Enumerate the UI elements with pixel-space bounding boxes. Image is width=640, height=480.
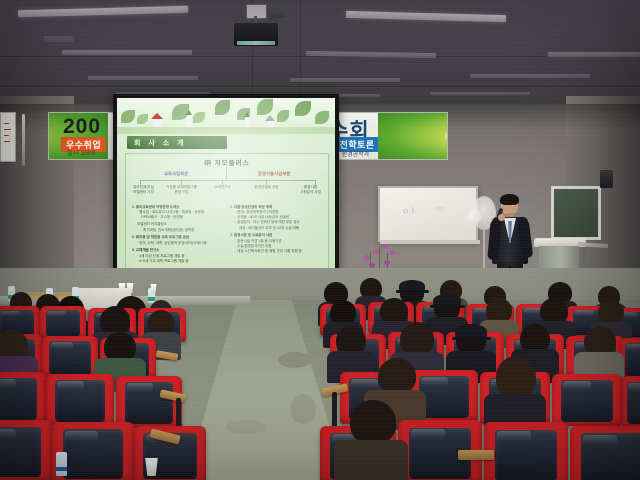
orchid-bloom [373,249,379,254]
auditorium-seat[interactable] [570,426,640,480]
auditorium-seat[interactable] [116,376,182,428]
ceiling-light [548,52,640,57]
orchid-bloom [364,255,370,260]
chalkboard [551,186,601,240]
auditorium-seat[interactable] [0,372,46,424]
orchid-bloom [389,250,395,255]
ceiling-light [306,51,436,58]
baseball-cap [399,280,425,292]
projector-cable [268,13,285,20]
ceiling-light [430,92,530,95]
auditorium-seat[interactable] [46,374,114,426]
whiteboard-writing: ㅇㅏ [401,205,417,217]
seat-armrest [458,450,494,460]
whiteboard: ㅇㅏ ○○ [378,186,478,242]
ceiling-light [346,11,506,22]
presenter-hair [500,194,519,205]
ceiling-projector [228,4,282,50]
auditorium-seat[interactable] [622,376,640,428]
ceiling-light [470,74,590,78]
auditorium-seat[interactable] [484,422,568,480]
banner-subtitle: 일시 2009. [67,148,97,157]
ceiling-light [18,6,188,17]
wall-tube-light [22,114,25,166]
baseball-cap [433,294,461,307]
ceiling-light [290,78,400,82]
projector-lens [237,41,275,45]
auditorium-seat[interactable] [0,420,52,480]
projection-screen: 회 사 소 개 ㈜ 자모플러스 교육사업부문 환경기술사업부문 유아단계 부설 … [113,94,339,280]
ceiling-light [88,76,198,80]
banner-swoosh [378,112,448,160]
ceiling-light [62,50,192,55]
wall-poster [0,112,16,162]
water-bottle[interactable] [56,452,67,476]
baseball-cap [455,324,487,339]
auditorium-scene: 200 우수취업 일시 2009. 수회 강전학토론 학교 환경공학과 [0,0,640,480]
banner-year: 200 [63,115,101,139]
wall-speaker [600,170,613,188]
orchid-bloom [382,244,388,249]
orchid-bloom [384,260,390,265]
auditorium-seat[interactable] [552,374,622,426]
ceiling-light [44,36,74,42]
presentation-slide: 회 사 소 개 ㈜ 자모플러스 교육사업부문 환경기술사업부문 유아단계 부설 … [117,98,335,276]
projector-glow [117,98,335,276]
presenter-hand [498,214,505,221]
seat-post [332,392,337,428]
auditorium-seat[interactable] [42,336,98,378]
auditorium-seat[interactable] [40,306,86,340]
projector-stem [255,46,257,53]
whiteboard-writing: ○○ [435,204,445,214]
